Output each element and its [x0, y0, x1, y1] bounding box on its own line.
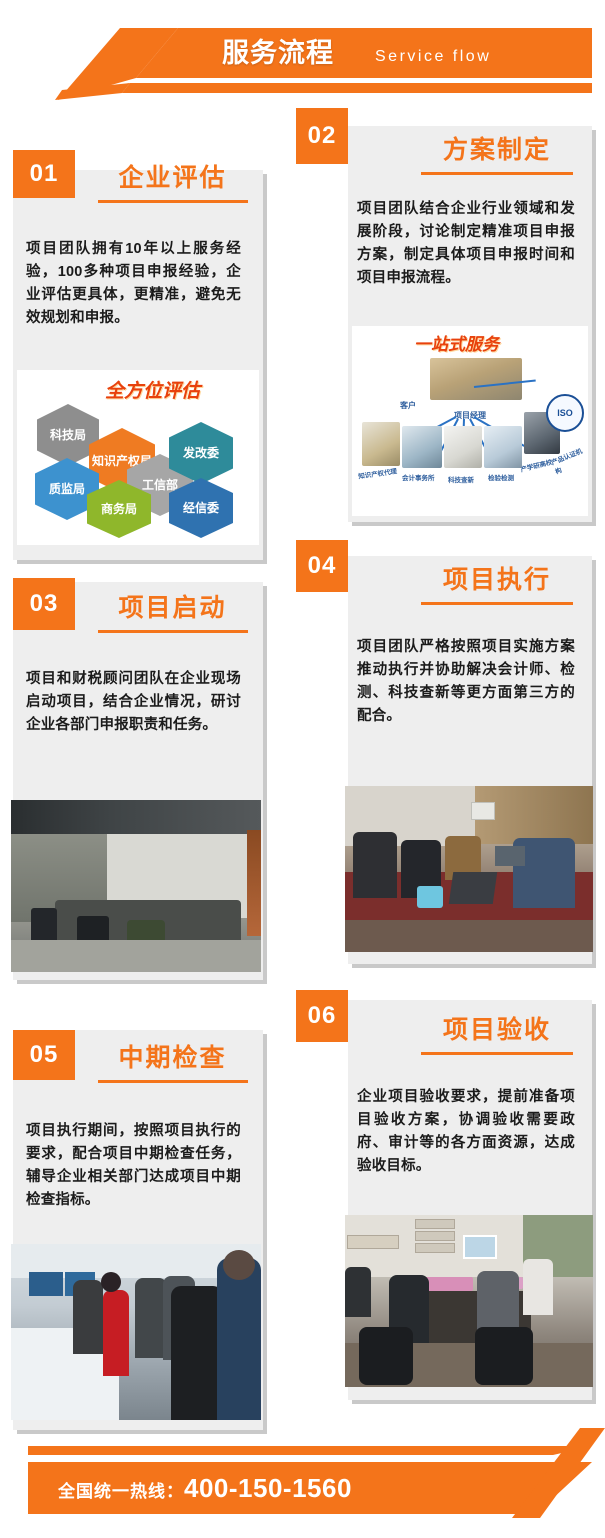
one-stop-service-4: 检验检测	[488, 472, 514, 482]
one-stop-tile-1	[362, 422, 400, 466]
card-title-underline-05	[98, 1080, 248, 1083]
photo-certificate-frame	[347, 1235, 399, 1249]
footer-hotline-label: 全国统一热线：	[58, 1482, 184, 1501]
photo-person	[73, 1280, 103, 1354]
photo-person	[345, 1267, 371, 1317]
footer-hotline: 全国统一热线：400-150-1560	[58, 1470, 352, 1510]
card-title-underline-04	[421, 602, 573, 605]
one-stop-diagram-02: 一站式服务 客户 项目经理 ISO 知识产权代理 会计事务所 科技查新 检验检测…	[352, 326, 588, 516]
one-stop-tile-4	[484, 426, 522, 468]
card-body-02: 项目团队结合企业行业领域和发展阶段，讨论制定精准项目申报方案，制定具体项目申报时…	[357, 198, 575, 290]
one-stop-tile-2	[402, 426, 442, 468]
card-title-underline-06	[421, 1052, 573, 1055]
card-title-underline-03	[98, 630, 248, 633]
photo-meeting-laptops-04	[345, 786, 593, 952]
card-title-block-05: 中期检查	[85, 1038, 260, 1083]
card-body-03: 项目和财税顾问团队在企业现场启动项目，结合企业情况，研讨企业各部门申报职责和任务…	[26, 668, 241, 737]
photo-screen	[29, 1272, 63, 1296]
one-stop-center-photo	[430, 358, 522, 400]
footer-accent-stripe	[28, 1446, 592, 1455]
card-badge-02: 02	[296, 108, 348, 164]
card-badge-05: 05	[13, 1030, 75, 1080]
photo-person-head	[101, 1272, 121, 1292]
card-title-05: 中期检查	[85, 1038, 260, 1074]
photo-person	[353, 832, 397, 898]
card-title-01: 企业评估	[85, 158, 260, 194]
card-badge-06: 06	[296, 990, 348, 1042]
photo-chair	[475, 1327, 533, 1385]
hex-chart-title: 全方位评估	[105, 376, 200, 403]
photo-ceiling	[11, 800, 261, 834]
card-title-block-03: 项目启动	[85, 588, 260, 633]
card-badge-03: 03	[13, 578, 75, 630]
card-title-block-04: 项目执行	[408, 560, 586, 605]
card-badge-04: 04	[296, 540, 348, 592]
photo-laptop	[449, 872, 497, 904]
one-stop-service-5: 产学研高校	[519, 456, 553, 474]
card-title-03: 项目启动	[85, 588, 260, 624]
one-stop-certification-seal: ISO	[546, 394, 584, 432]
page-title: 服务流程	[222, 34, 334, 72]
photo-chair	[359, 1327, 413, 1385]
photo-person-red-coat	[103, 1290, 129, 1376]
photo-wood-panel	[247, 830, 261, 936]
card-title-block-02: 方案制定	[408, 130, 586, 175]
photo-certificate-frame	[415, 1231, 455, 1241]
photo-boardroom-review-06	[345, 1215, 593, 1387]
card-title-block-06: 项目验收	[408, 1010, 586, 1055]
photo-certificate-frame	[415, 1219, 455, 1229]
card-body-06: 企业项目验收要求，提前准备项目验收方案，协调验收需要政府、审计等的各方面资源，达…	[357, 1086, 575, 1178]
photo-person-black-jacket	[171, 1286, 223, 1420]
one-stop-service-3: 科技查新	[448, 474, 474, 484]
card-title-block-01: 企业评估	[85, 158, 260, 203]
photo-bag	[417, 886, 443, 908]
page-header: 服务流程 Service flow	[0, 0, 605, 100]
photo-conference-room-03	[11, 800, 261, 972]
photo-laptop	[495, 846, 525, 866]
photo-person-white-shirt	[523, 1259, 553, 1315]
photo-ac-unit	[471, 802, 495, 820]
footer-hotline-number[interactable]: 400-150-1560	[184, 1473, 352, 1503]
card-title-underline-01	[98, 200, 248, 203]
photo-person-navy-jacket	[217, 1258, 261, 1420]
one-stop-service-1: 知识产权代理	[357, 465, 397, 480]
card-badge-01: 01	[13, 150, 75, 198]
card-title-06: 项目验收	[408, 1010, 586, 1046]
card-title-02: 方案制定	[408, 130, 586, 166]
one-stop-label-customer: 客户	[400, 400, 416, 411]
photo-foreground	[345, 920, 593, 952]
photo-projector-screen	[463, 1235, 497, 1259]
card-title-underline-02	[421, 172, 573, 175]
page-footer: 全国统一热线：400-150-1560	[0, 1408, 605, 1538]
photo-certificate-frame	[415, 1243, 455, 1253]
card-title-04: 项目执行	[408, 560, 586, 596]
one-stop-service-2: 会计事务所	[402, 472, 435, 482]
page-subtitle: Service flow	[375, 44, 491, 70]
card-body-04: 项目团队严格按照项目实施方案推动执行并协助解决会计师、检测、科技查新等更方面第三…	[357, 636, 575, 728]
one-stop-tile-3	[444, 426, 482, 468]
card-body-01: 项目团队拥有10年以上服务经验，100多种项目申报经验，企业评估更具体，更精准，…	[26, 238, 241, 330]
photo-floor	[11, 940, 261, 972]
card-body-05: 项目执行期间，按照项目执行的要求，配合项目中期检查任务，辅导企业相关部门达成项目…	[26, 1120, 241, 1212]
one-stop-title: 一站式服务	[414, 330, 499, 355]
photo-person-head	[223, 1250, 255, 1280]
photo-showroom-visit-05	[11, 1244, 261, 1420]
hex-chart-01: 全方位评估 科技局 知识产权局 质监局 工信部 商务局 发改委 经信委	[17, 370, 259, 545]
